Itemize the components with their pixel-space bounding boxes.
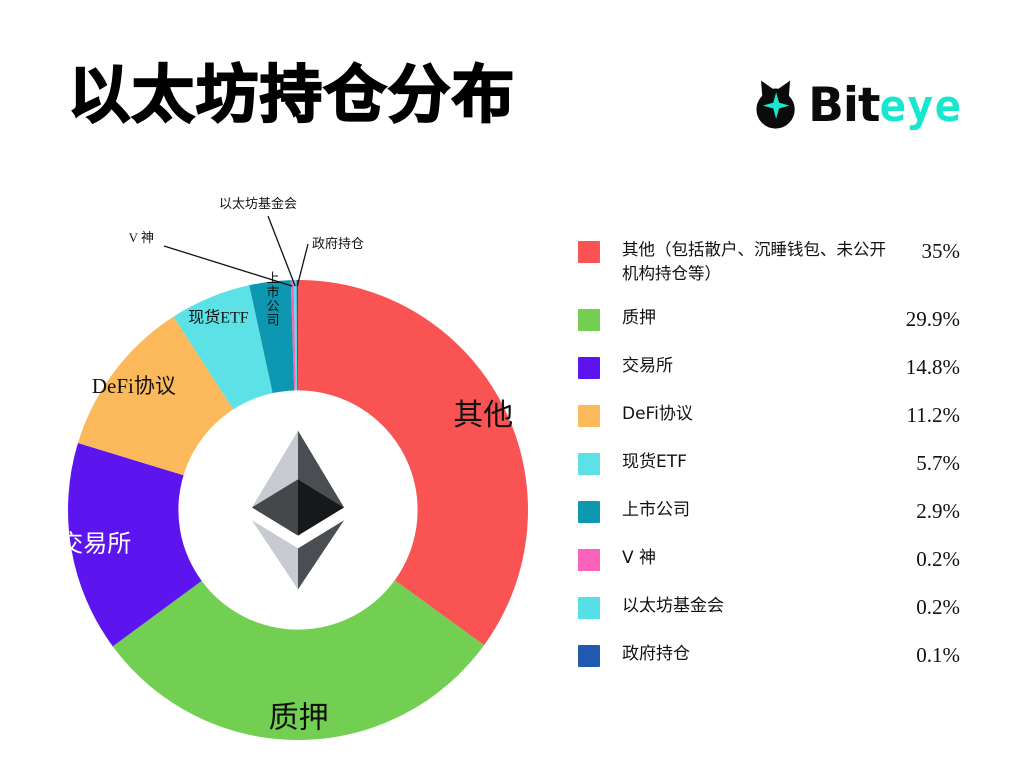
legend-row[interactable]: 其他（包括散户、沉睡钱包、未公开机构持仓等）35% [578,238,960,302]
logo-wordmark: Bit eye [808,82,962,129]
legend-label: 上市公司 [600,498,886,523]
legend-row[interactable]: 交易所14.8% [578,354,960,398]
legend-color-swatch [578,501,600,523]
legend-value: 5.7% [886,450,960,476]
legend-value: 11.2% [886,402,960,428]
donut-slice[interactable] [298,280,528,645]
logo-word-bit: Bit [808,82,879,129]
legend-color-swatch [578,309,600,331]
ethereum-logo-icon [252,431,344,590]
legend-label: 交易所 [600,354,886,379]
legend-value: 0.2% [886,594,960,620]
legend-color-swatch [578,357,600,379]
legend-value: 0.2% [886,546,960,572]
legend-color-swatch [578,597,600,619]
legend-color-swatch [578,453,600,475]
callout-label: 以太坊基金会 [219,196,297,211]
legend-color-swatch [578,241,600,263]
donut-chart-svg: 其他质押交易所DeFi协议现货ETF上市公司 V 神以太坊基金会政府持仓 [36,186,556,696]
legend-color-swatch [578,645,600,667]
legend-label: 现货ETF [600,450,886,475]
legend-color-swatch [578,405,600,427]
page-title: 以太坊持仓分布 [68,64,516,126]
legend-row[interactable]: 质押29.9% [578,306,960,350]
header: 以太坊持仓分布 Bit eye [0,0,1024,180]
donut-slice-label: 质押 [269,701,329,734]
donut-slice-label: DeFi协议 [92,374,176,398]
donut-slice-label: 现货ETF [188,308,249,326]
legend-row[interactable]: 以太坊基金会0.2% [578,594,960,638]
brand-logo: Bit eye [746,74,962,136]
logo-word-eye: eye [880,85,962,129]
legend-value: 35% [894,238,960,264]
callout-leader-line [297,244,308,286]
legend-label: 以太坊基金会 [600,594,886,619]
legend-label: DeFi协议 [600,402,886,427]
legend-label: 政府持仓 [600,642,886,667]
legend-value: 2.9% [886,498,960,524]
legend-value: 14.8% [886,354,960,380]
donut-chart: 其他质押交易所DeFi协议现货ETF上市公司 V 神以太坊基金会政府持仓 [36,186,556,696]
donut-callouts: V 神以太坊基金会政府持仓 [129,196,364,286]
legend-row[interactable]: 上市公司2.9% [578,498,960,542]
legend-color-swatch [578,549,600,571]
chart-legend: 其他（包括散户、沉睡钱包、未公开机构持仓等）35%质押29.9%交易所14.8%… [578,238,960,690]
donut-slice-label: 其他 [453,399,513,432]
legend-value: 29.9% [886,306,960,332]
legend-label: 其他（包括散户、沉睡钱包、未公开机构持仓等） [600,238,894,286]
callout-leader-line [164,246,292,286]
biteye-cat-sparkle-icon [746,76,804,134]
legend-row[interactable]: 现货ETF5.7% [578,450,960,494]
legend-label: V 神 [600,546,886,571]
callout-label: V 神 [129,230,154,245]
legend-row[interactable]: V 神0.2% [578,546,960,590]
donut-slice-label: 交易所 [59,531,131,558]
legend-row[interactable]: DeFi协议11.2% [578,402,960,446]
legend-value: 0.1% [886,642,960,668]
callout-label: 政府持仓 [312,236,364,251]
legend-label: 质押 [600,306,886,331]
legend-row[interactable]: 政府持仓0.1% [578,642,960,686]
